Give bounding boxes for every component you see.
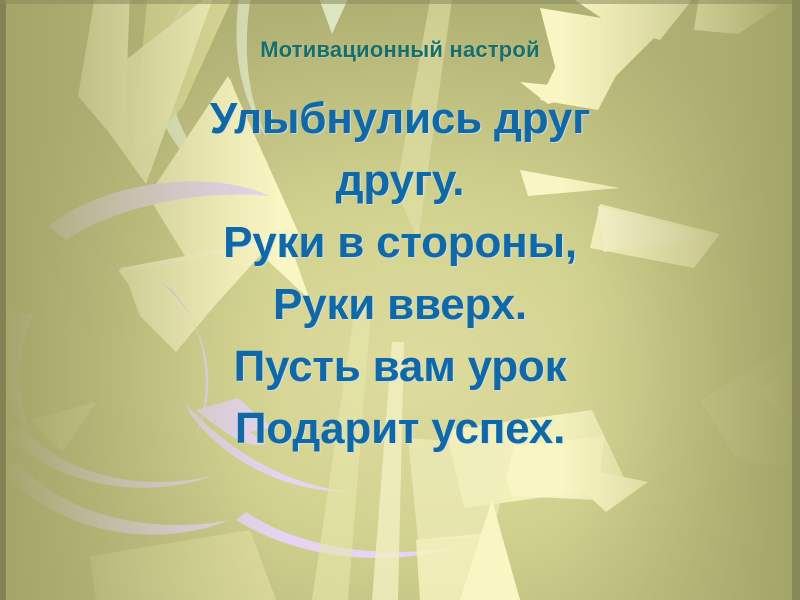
body-line-2: другу. [24,150,776,212]
body-line-6: Подарит успех. [24,398,776,460]
slide-body-text: Улыбнулись друг другу. Руки в стороны, Р… [24,88,776,460]
slide-content: Мотивационный настрой Улыбнулись друг др… [0,0,800,600]
slide-title: Мотивационный настрой [0,38,800,62]
body-line-4: Руки вверх. [24,274,776,336]
body-line-5: Пусть вам урок [24,336,776,398]
body-line-3: Руки в стороны, [24,212,776,274]
body-line-1: Улыбнулись друг [24,88,776,150]
presentation-slide: Мотивационный настрой Улыбнулись друг др… [0,0,800,600]
